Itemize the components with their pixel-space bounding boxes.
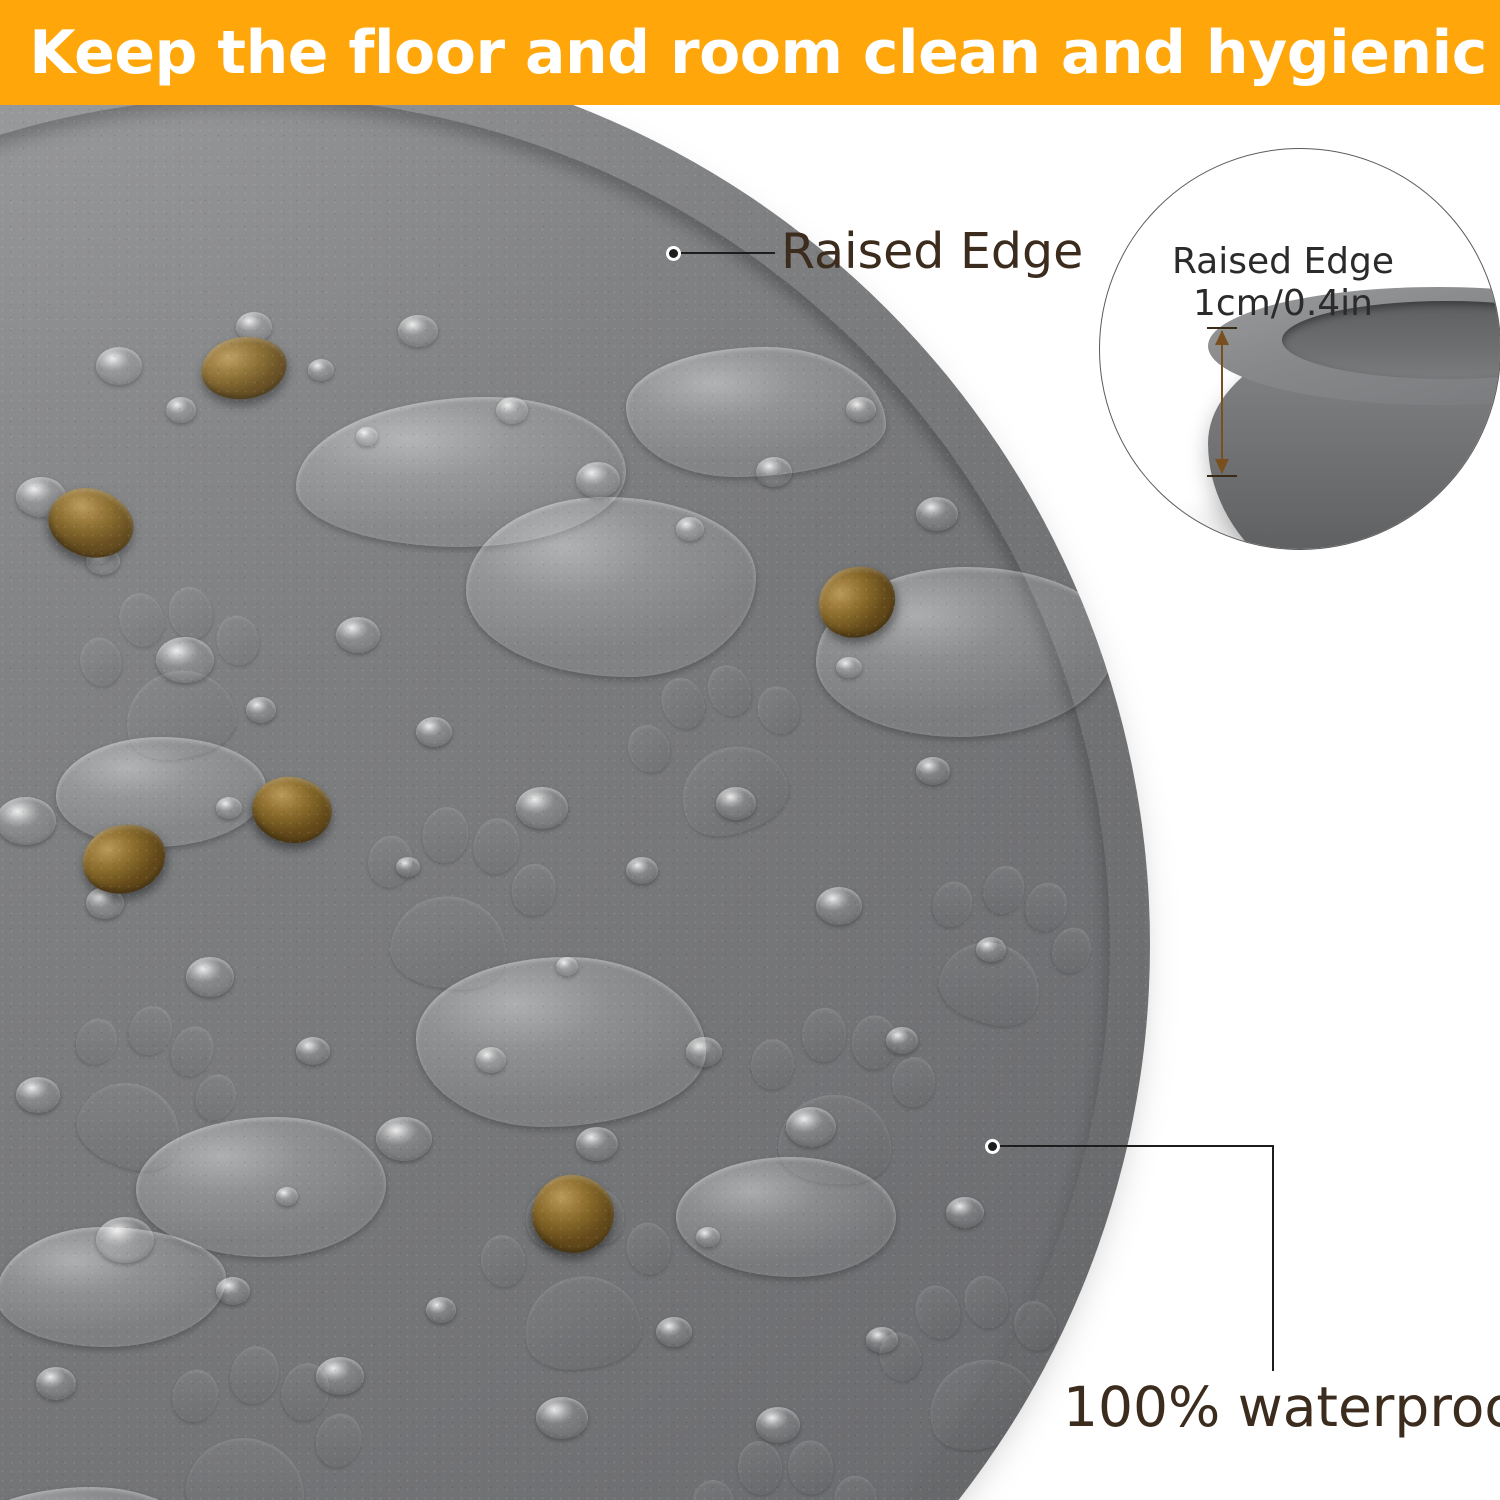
dimension-cap-top	[1207, 327, 1237, 329]
product-photo: Raised Edge 100% waterproof Raised Edge …	[0, 105, 1500, 1500]
waterproof-callout-label: 100% waterproof	[1063, 1375, 1500, 1439]
kibble-piece	[1116, 1283, 1150, 1367]
dimension-arrowhead-down	[1215, 459, 1229, 474]
waterproof-leader-vertical	[1272, 1145, 1274, 1371]
waterproof-leader-horizontal	[1000, 1145, 1274, 1147]
dimension-arrow	[1207, 327, 1237, 477]
headline-text: Keep the floor and room clean and hygien…	[0, 0, 1500, 105]
raised-edge-detail-inset: Raised Edge 1cm/0.4in	[1099, 148, 1500, 550]
waterproof-callout-marker	[985, 1139, 1000, 1154]
inset-measurement: 1cm/0.4in	[1118, 283, 1448, 325]
inset-caption: Raised Edge 1cm/0.4in	[1118, 241, 1448, 325]
dimension-arrowhead-up	[1215, 330, 1229, 345]
dimension-cap-bottom	[1207, 475, 1237, 477]
mat-surface-grain	[0, 105, 1150, 1500]
feeding-mat	[0, 105, 1150, 1500]
headline-banner: Keep the floor and room clean and hygien…	[0, 0, 1500, 105]
inset-title: Raised Edge	[1118, 241, 1448, 283]
raised-edge-callout-label: Raised Edge	[781, 223, 1083, 280]
raised-edge-callout-marker	[666, 246, 681, 261]
dimension-line	[1221, 331, 1223, 473]
product-feature-image: Keep the floor and room clean and hygien…	[0, 0, 1500, 1500]
raised-edge-leader-line	[681, 252, 775, 254]
